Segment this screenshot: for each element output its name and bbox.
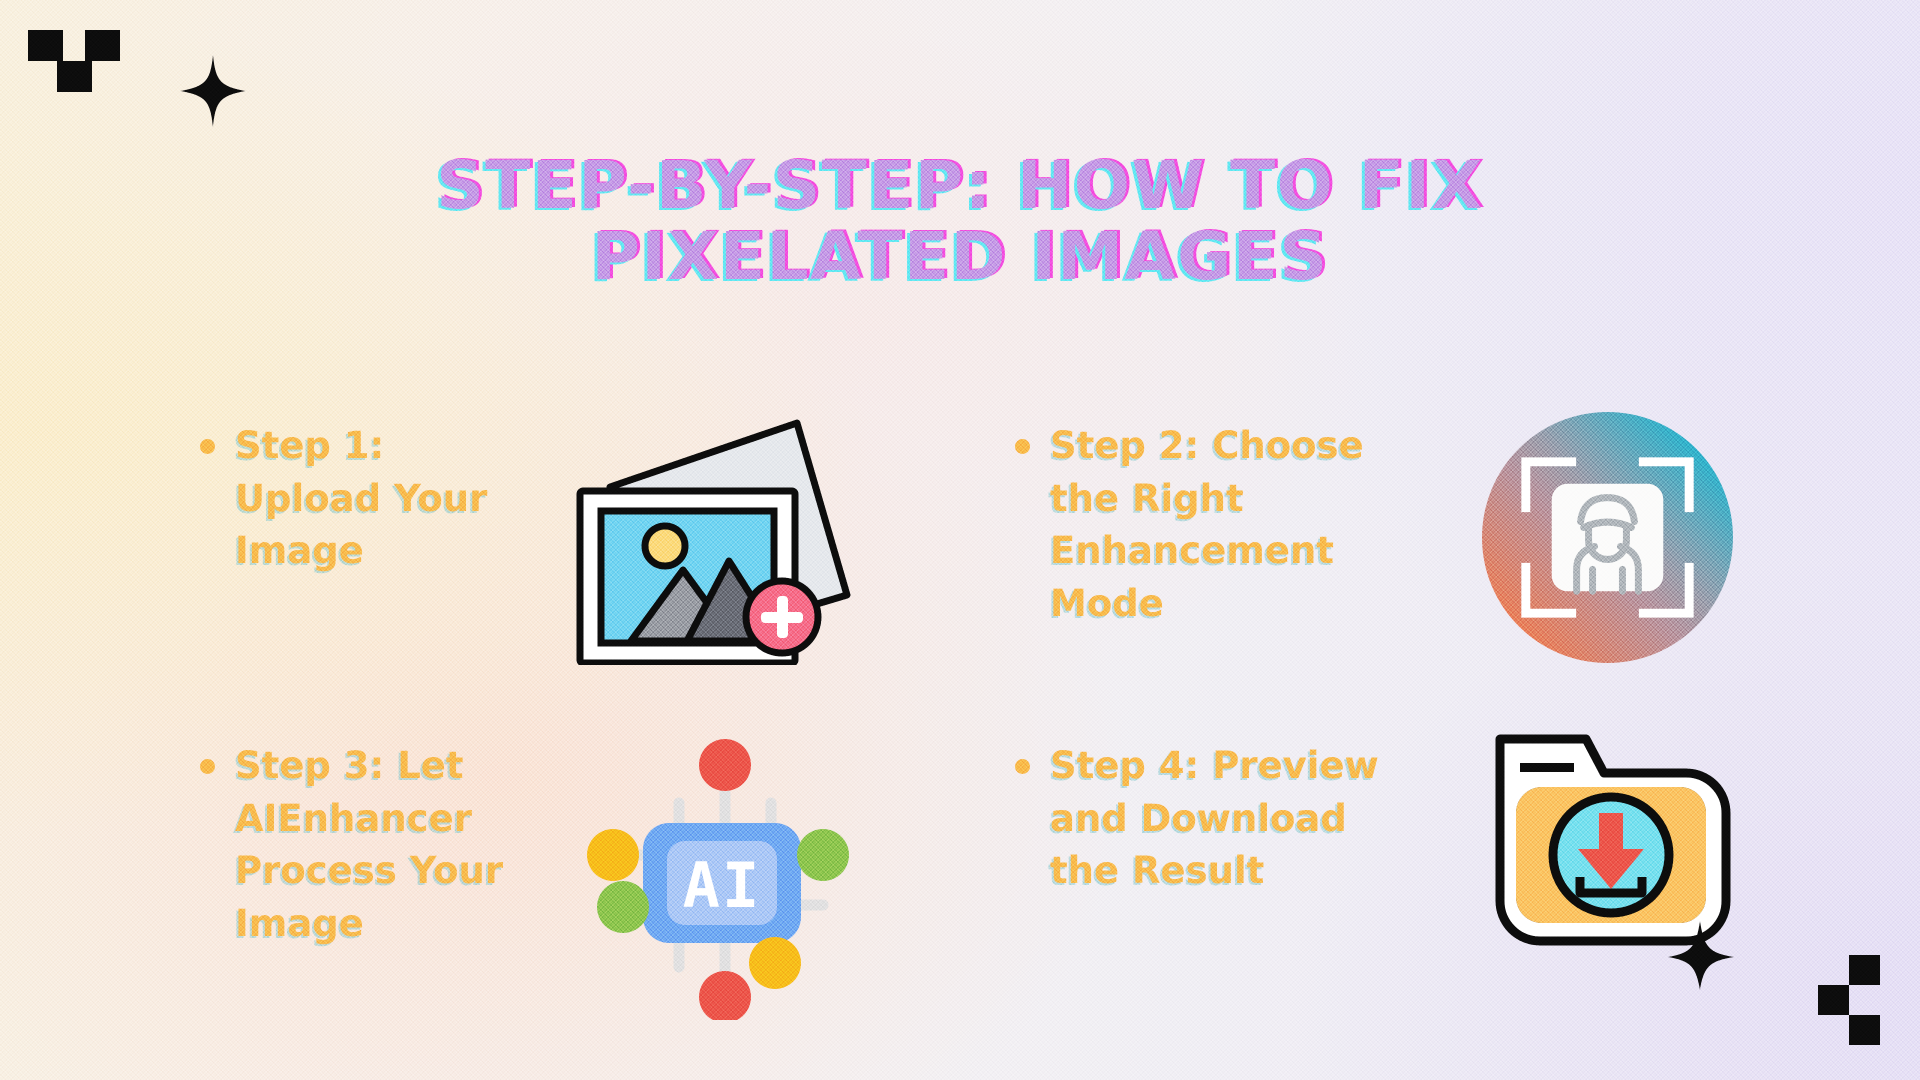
bullet-icon [1015, 439, 1030, 454]
ai-chip-icon: AI [575, 735, 850, 1020]
pixel-square [1849, 955, 1880, 985]
node-orange-left [587, 829, 639, 881]
pixel-square [1849, 1015, 1880, 1045]
svg-text:AI: AI [683, 849, 762, 922]
bullet-icon [200, 759, 215, 774]
step-item-4: Step 4: Preview and Download the Result [1015, 740, 1380, 898]
step-1-label: Step 1: Upload Your Image [235, 420, 535, 578]
pixel-mark-top-left [28, 30, 108, 98]
node-green-right [797, 829, 849, 881]
poster-canvas: STEP-BY-STEP: HOW TO FIX PIXELATED IMAGE… [0, 0, 1920, 1080]
node-red-bottom [699, 971, 751, 1020]
step-2-label: Step 2: Choose the Right Enhancement Mod… [1050, 420, 1380, 630]
page-title: STEP-BY-STEP: HOW TO FIX PIXELATED IMAGE… [0, 150, 1920, 293]
title-line-1: STEP-BY-STEP: HOW TO FIX [0, 150, 1920, 221]
bullet-icon [1015, 759, 1030, 774]
pixel-square [28, 30, 63, 61]
step-item-2: Step 2: Choose the Right Enhancement Mod… [1015, 420, 1380, 630]
pixel-square [57, 61, 92, 92]
title-line-2: PIXELATED IMAGES [0, 221, 1920, 292]
sparkle-top-left [180, 55, 246, 127]
step-item-1: Step 1: Upload Your Image [200, 420, 535, 578]
step-item-3: Step 3: Let AIEnhancer Process Your Imag… [200, 740, 535, 950]
step-3-label: Step 3: Let AIEnhancer Process Your Imag… [235, 740, 535, 950]
pixel-square [1818, 985, 1849, 1015]
pixel-square [85, 30, 120, 61]
portrait-focus-icon [1480, 410, 1735, 665]
node-green-left [597, 881, 649, 933]
photo-upload-icon [575, 415, 865, 665]
bullet-icon [200, 439, 215, 454]
node-red-top [699, 739, 751, 791]
step-4-label: Step 4: Preview and Download the Result [1050, 740, 1380, 898]
node-orange-right [749, 937, 801, 989]
download-folder-icon [1480, 725, 1755, 990]
pixel-mark-bottom-right [1818, 955, 1896, 1050]
